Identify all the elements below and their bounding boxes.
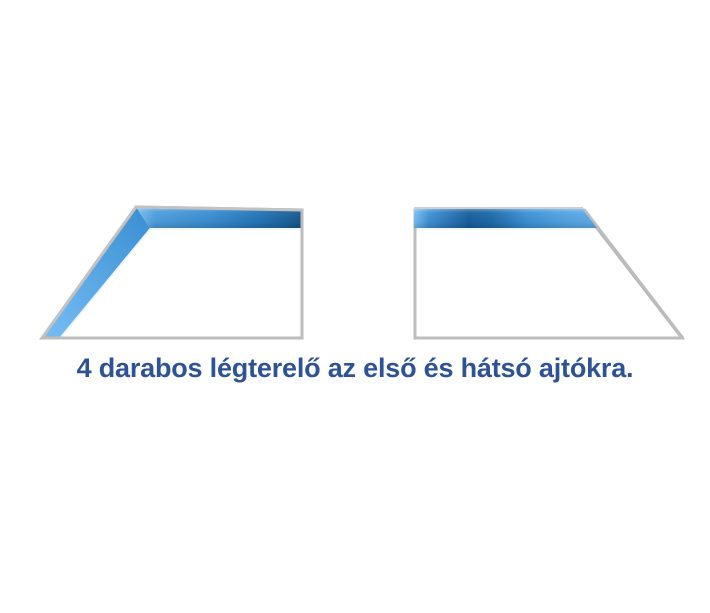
illustration-canvas: 4 darabos légterelő az első és hátsó ajt…: [0, 0, 710, 613]
rear-door-deflector-shape: [414, 208, 683, 338]
caption-text: 4 darabos légterelő az első és hátsó ajt…: [0, 351, 710, 385]
wind-deflector-diagram: [0, 0, 710, 613]
rear-door-deflector-band-shading: [414, 208, 597, 228]
front-door-deflector-shape: [42, 207, 302, 338]
